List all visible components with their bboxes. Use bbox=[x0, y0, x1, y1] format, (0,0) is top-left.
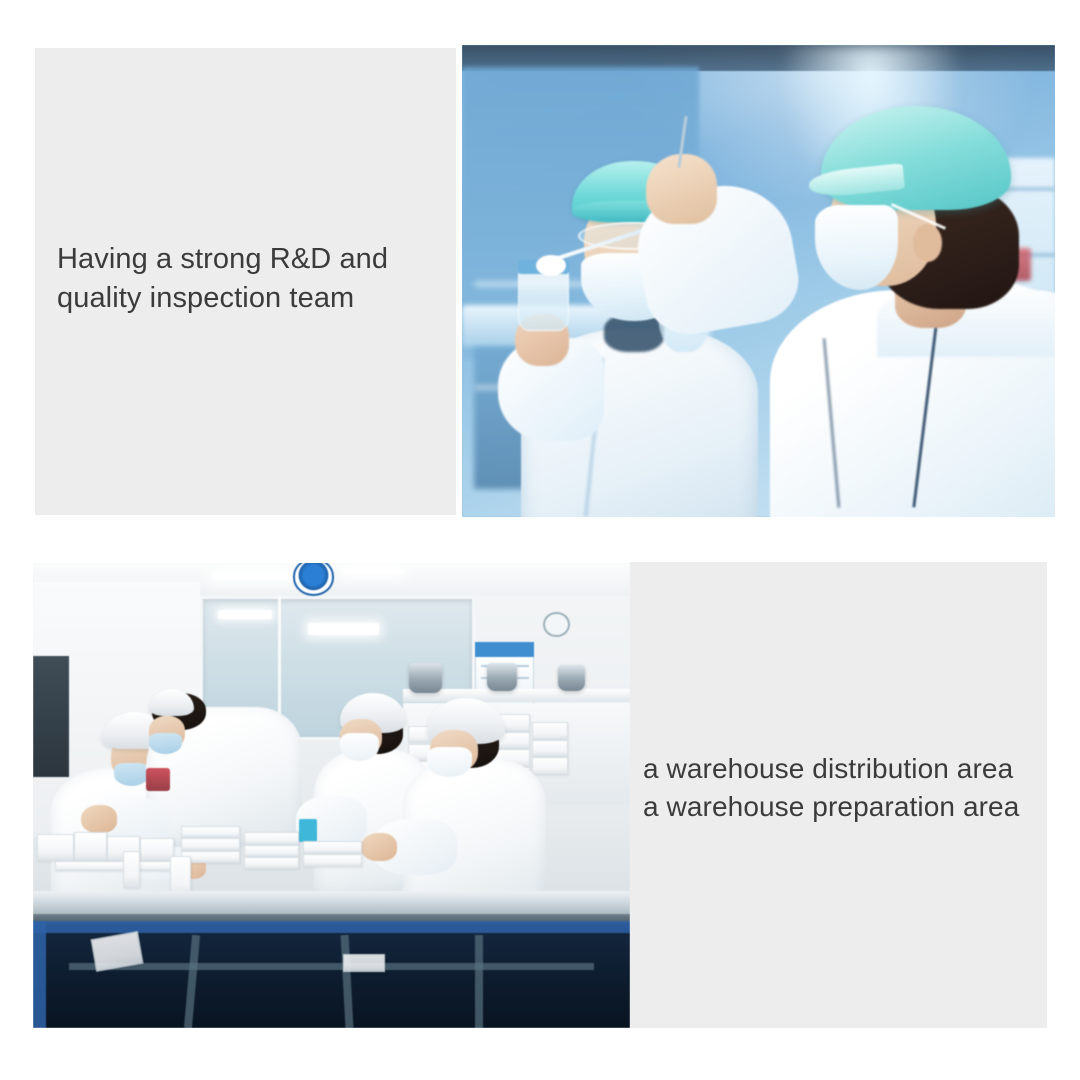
warehouse-dark-doorway bbox=[33, 656, 69, 777]
lab-glass-beaker bbox=[518, 269, 568, 330]
warehouse-red-item bbox=[146, 768, 170, 791]
lab-quality-inspection-photo bbox=[462, 45, 1055, 517]
ceiling-light bbox=[212, 572, 296, 579]
page-canvas: Having a strong R&D and quality inspecti… bbox=[0, 0, 1080, 1080]
blue-table-frame bbox=[33, 921, 630, 933]
stainless-pot bbox=[487, 663, 517, 691]
ceiling-light bbox=[343, 569, 403, 575]
window-interior-light bbox=[218, 610, 272, 619]
paper-under-table bbox=[343, 954, 385, 973]
warehouse-packing-photo bbox=[33, 563, 630, 1028]
lab-spatula-bowl bbox=[536, 255, 566, 276]
blue-table-leg bbox=[33, 921, 46, 1028]
lab-worker-right-ear bbox=[913, 224, 943, 262]
rnd-caption-text: Having a strong R&D and quality inspecti… bbox=[57, 240, 457, 318]
warehouse-worker-d-face-mask bbox=[427, 747, 472, 777]
table-product-boxes bbox=[33, 796, 403, 898]
white-tube-product bbox=[123, 851, 141, 888]
window-interior-light bbox=[308, 623, 380, 635]
lab-worker-right-hand bbox=[646, 154, 717, 225]
warehouse-worker-b-face-mask bbox=[149, 733, 182, 754]
poster-header bbox=[475, 642, 535, 657]
stainless-pot bbox=[558, 665, 585, 691]
stainless-pot bbox=[409, 663, 442, 693]
table-cross-bar bbox=[69, 963, 594, 970]
stainless-steel-table-top bbox=[33, 891, 630, 917]
table-leg bbox=[475, 935, 483, 1028]
warehouse-caption-text: a warehouse distribution area a warehous… bbox=[643, 750, 1053, 826]
warehouse-worker-c-face-mask bbox=[340, 733, 379, 761]
